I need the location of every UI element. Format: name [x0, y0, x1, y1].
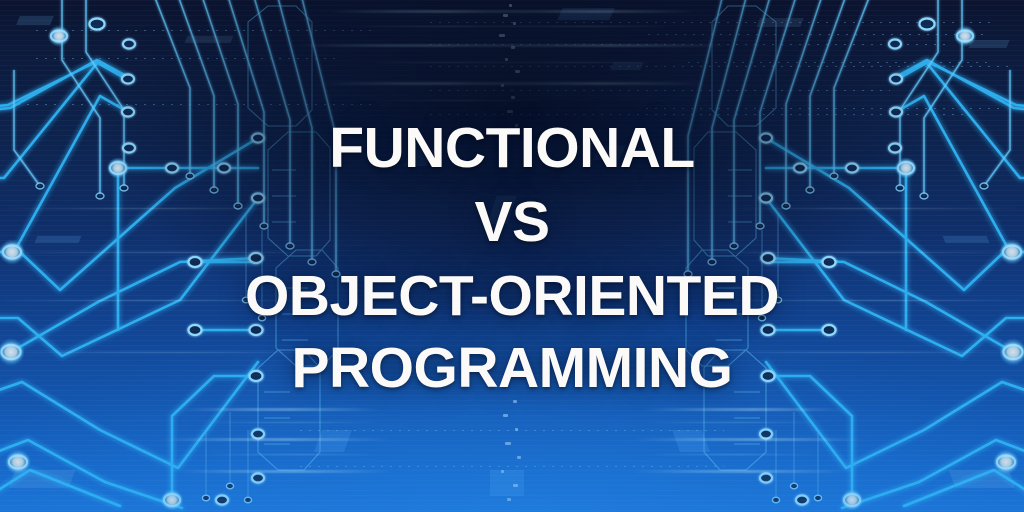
title-line-programming: PROGRAMMING [292, 340, 733, 397]
title-line-vs: VS [474, 194, 549, 251]
title-line-functional: FUNCTIONAL [329, 120, 694, 177]
tech-banner: FUNCTIONAL VS OBJECT-ORIENTED PROGRAMMIN… [0, 0, 1024, 512]
title-line-object-oriented: OBJECT-ORIENTED [245, 268, 779, 325]
title-block: FUNCTIONAL VS OBJECT-ORIENTED PROGRAMMIN… [0, 0, 1024, 512]
